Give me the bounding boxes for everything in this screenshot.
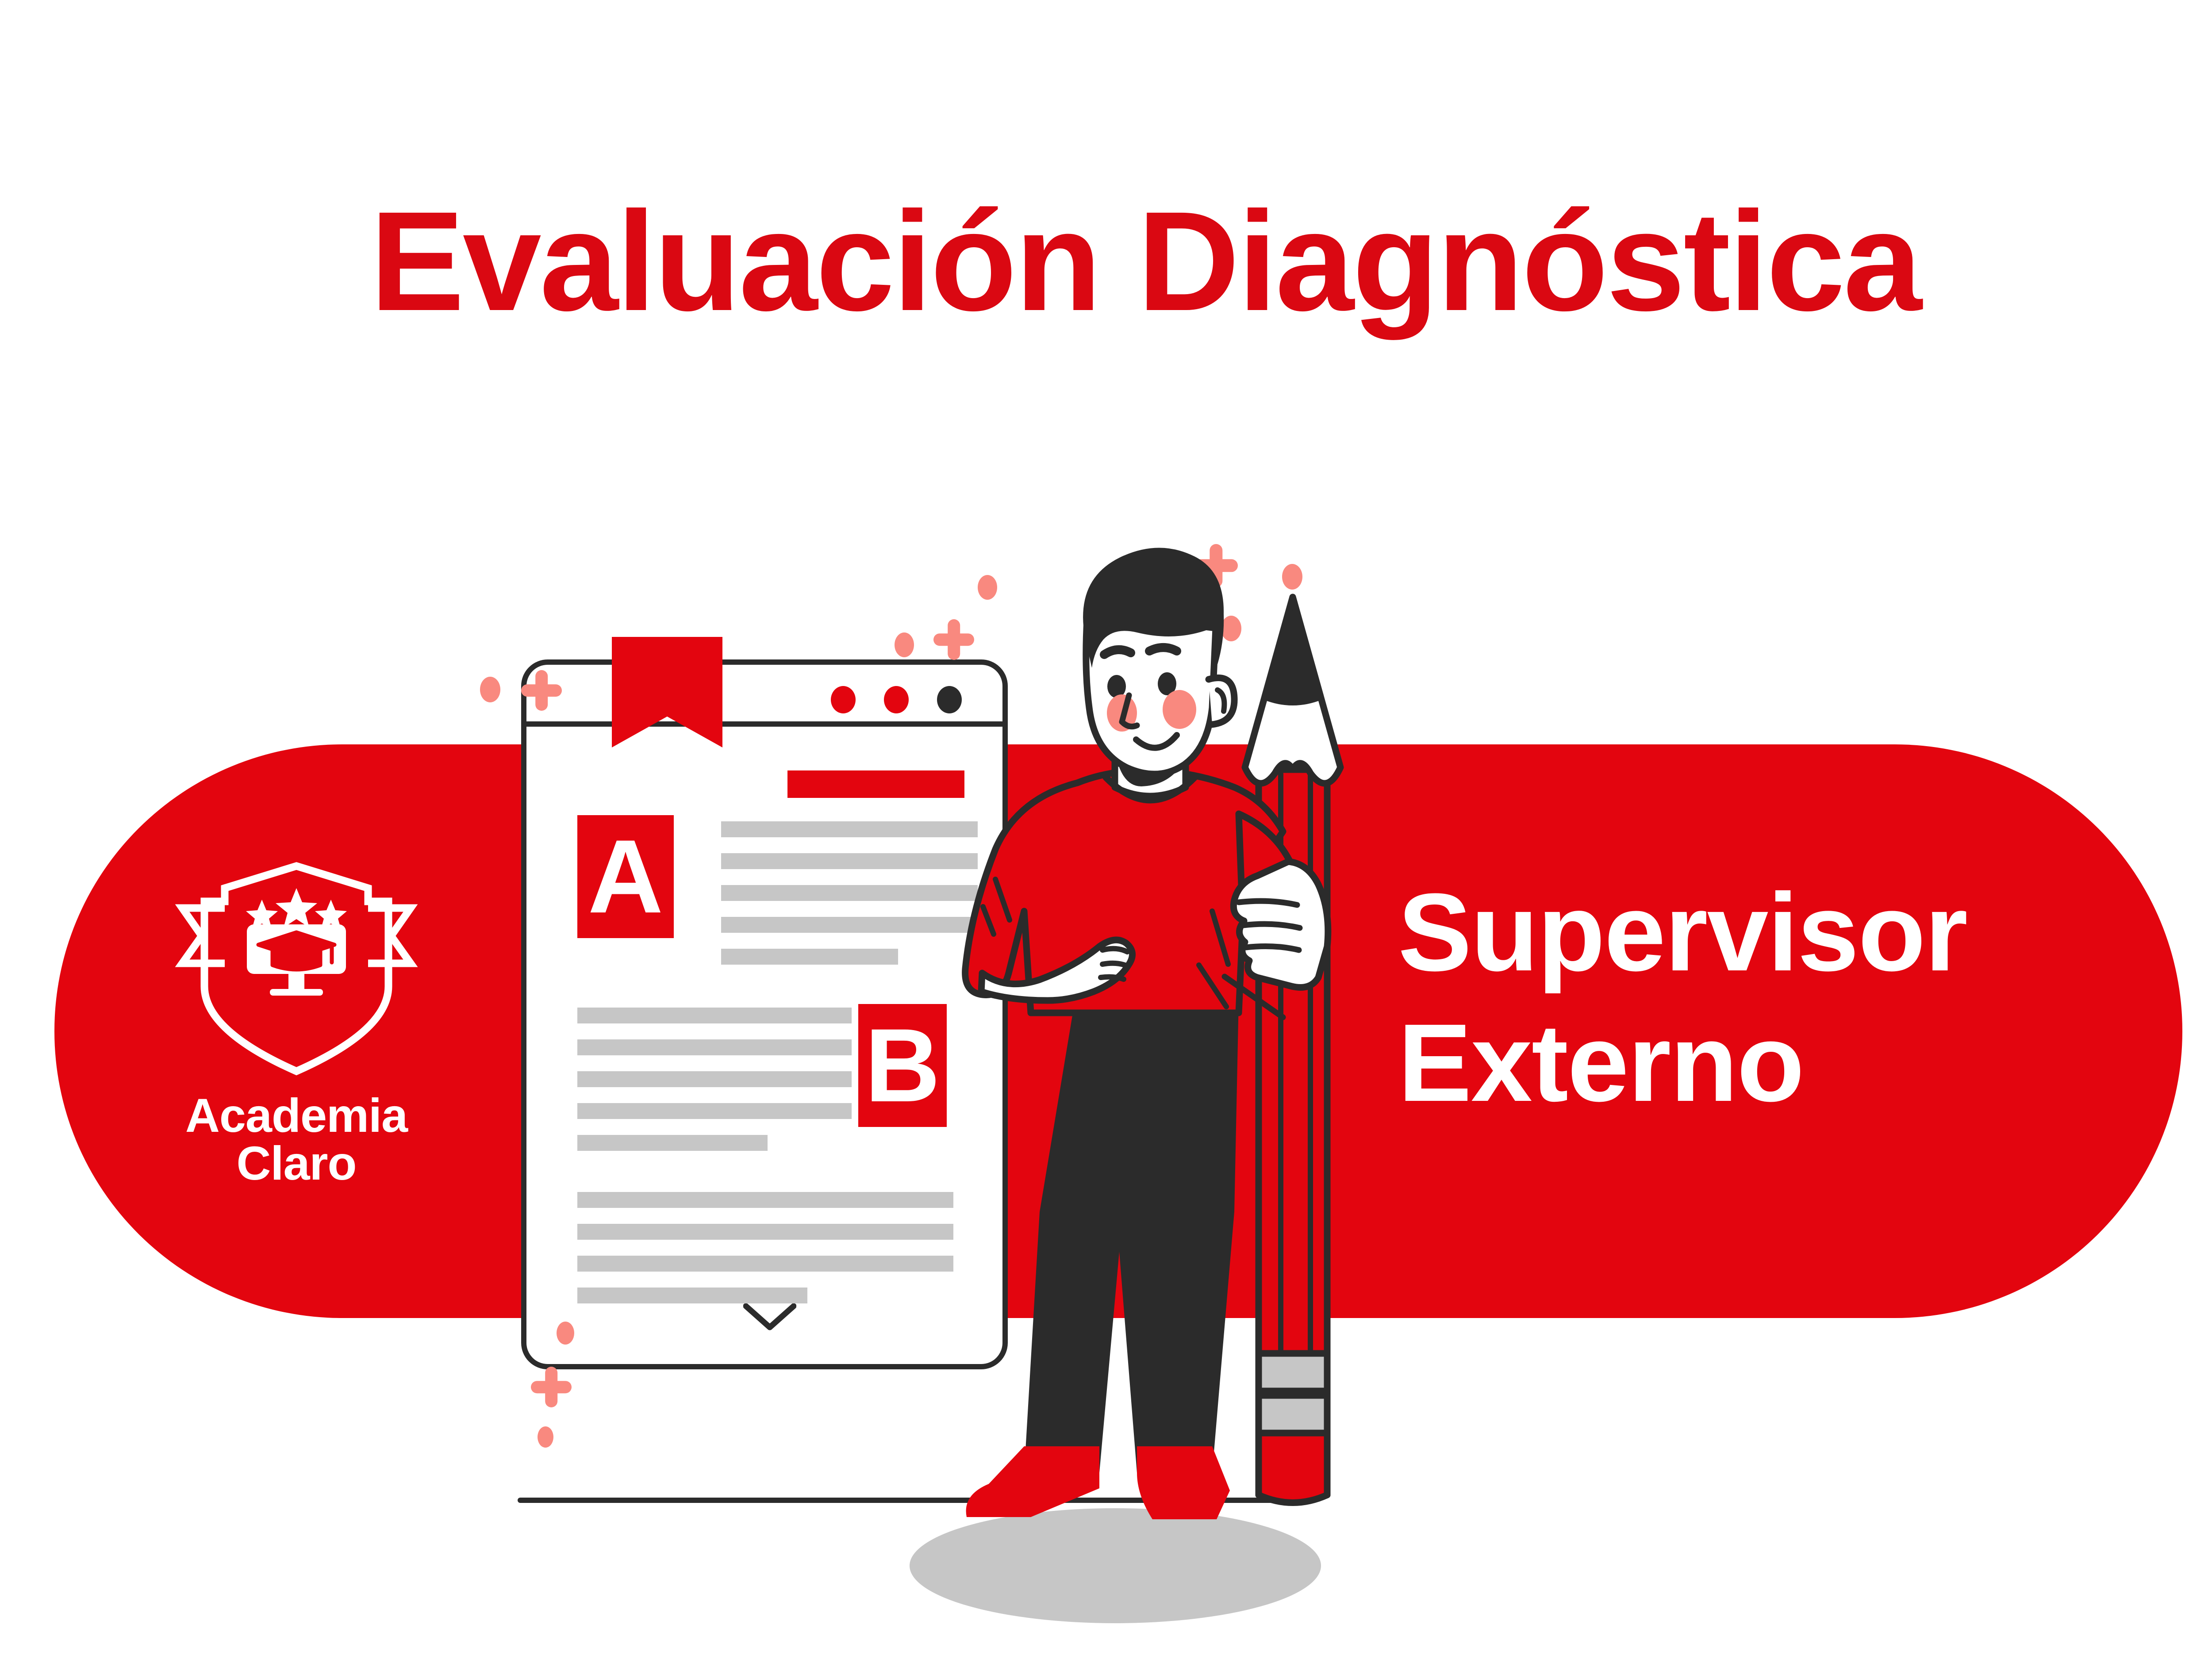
doc-text-line xyxy=(721,949,898,965)
logo-text-line-1: Academia xyxy=(164,1092,429,1139)
doc-text-line xyxy=(577,1103,852,1119)
dot-sprinkle-icon xyxy=(538,1426,553,1448)
academia-claro-logo: Academia Claro xyxy=(164,854,429,1203)
shield-monitor-graduation-cap-icon xyxy=(164,854,429,1084)
doc-text-line xyxy=(577,1256,953,1272)
poster-canvas: Evaluación Diagnóstica xyxy=(0,0,2212,1667)
chevron-down-icon[interactable] xyxy=(743,1303,796,1331)
doc-text-line xyxy=(577,1008,852,1023)
doc-text-line xyxy=(577,1071,852,1087)
doc-text-line xyxy=(577,1192,953,1208)
role-label-line-2: Externo xyxy=(1398,997,2088,1128)
role-label: Supervisor Externo xyxy=(1398,867,2088,1128)
student-with-pencil xyxy=(929,522,1451,1548)
role-label-line-1: Supervisor xyxy=(1398,867,2088,997)
doc-text-line xyxy=(577,1039,852,1055)
dot-sprinkle-icon xyxy=(557,1322,574,1345)
doc-text-line xyxy=(577,1135,768,1151)
window-dot-red-1 xyxy=(831,686,856,713)
dot-sprinkle-icon xyxy=(895,632,914,657)
window-dot-red-2 xyxy=(884,686,909,713)
plus-sprinkle-icon xyxy=(521,670,562,711)
doc-text-line xyxy=(577,1224,953,1240)
dot-sprinkle-icon xyxy=(480,677,500,702)
option-badge-a: A xyxy=(577,815,674,938)
page-title: Evaluación Diagnóstica xyxy=(0,190,2212,332)
logo-text: Academia Claro xyxy=(164,1092,429,1187)
logo-text-line-2: Claro xyxy=(164,1139,429,1187)
plus-sprinkle-icon xyxy=(531,1367,572,1407)
doc-text-line xyxy=(577,1288,807,1303)
